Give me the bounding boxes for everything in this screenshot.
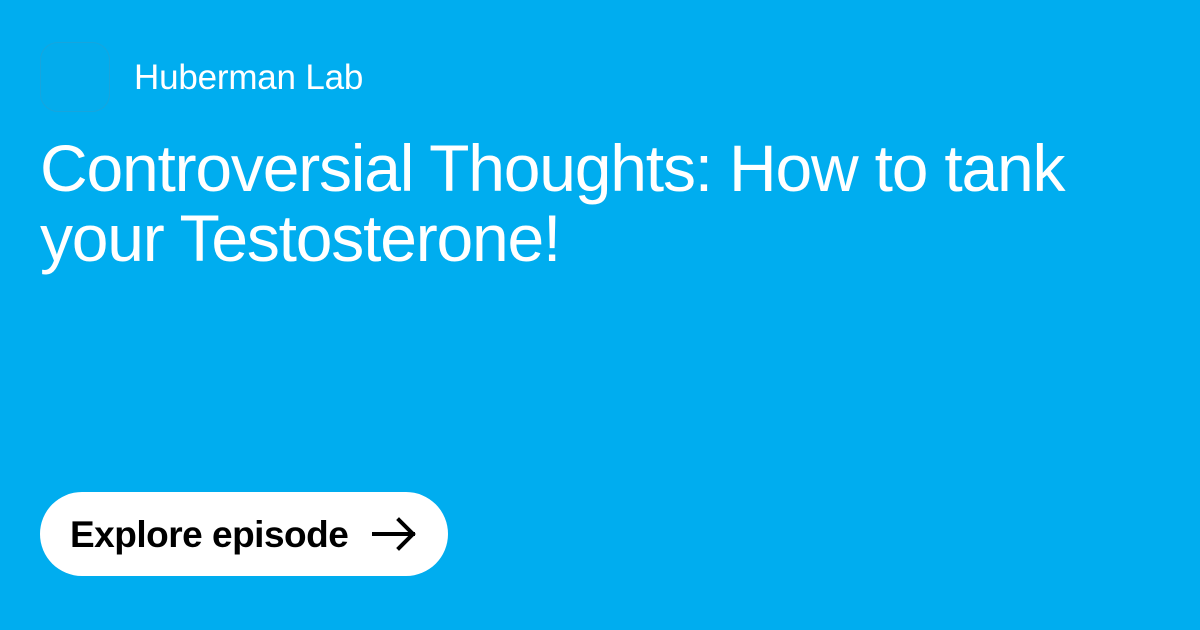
explore-episode-label: Explore episode [70, 516, 348, 553]
episode-title: Controversial Thoughts: How to tank your… [40, 133, 1150, 273]
explore-episode-button[interactable]: Explore episode [40, 492, 448, 576]
podcast-share-card: Huberman Lab Controversial Thoughts: How… [0, 0, 1200, 630]
brand-row: Huberman Lab [40, 42, 363, 112]
arrow-right-icon [372, 517, 418, 551]
podcast-artwork-placeholder-icon [40, 42, 110, 112]
podcast-brand-name: Huberman Lab [134, 60, 363, 95]
